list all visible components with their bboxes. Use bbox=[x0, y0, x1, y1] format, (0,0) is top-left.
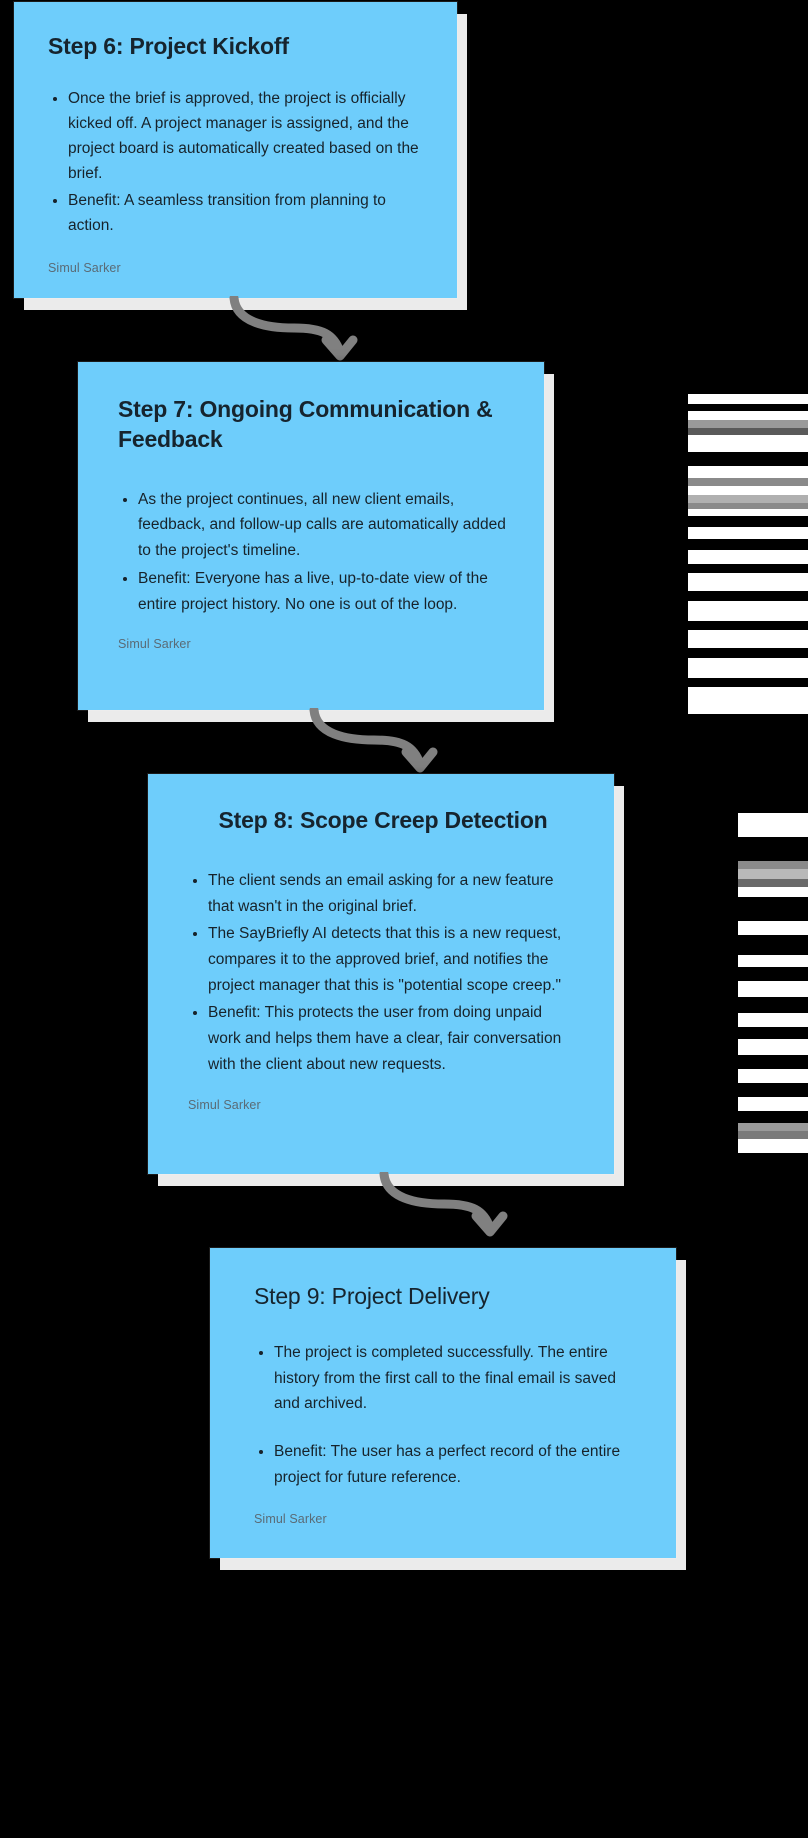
list-item: The SayBriefly AI detects that this is a… bbox=[208, 921, 578, 998]
card-byline: Simul Sarker bbox=[118, 637, 508, 651]
card-title: Step 8: Scope Creep Detection bbox=[188, 806, 578, 836]
card-byline: Simul Sarker bbox=[48, 261, 423, 275]
arrow-step6-to-step7 bbox=[222, 296, 402, 362]
list-item: Benefit: A seamless transition from plan… bbox=[68, 188, 423, 238]
list-item: Once the brief is approved, the project … bbox=[68, 86, 423, 186]
card-step-8[interactable]: Step 8: Scope Creep Detection The client… bbox=[148, 774, 614, 1174]
list-item: The project is completed successfully. T… bbox=[274, 1340, 640, 1417]
card-step-7[interactable]: Step 7: Ongoing Communication & Feedback… bbox=[78, 362, 544, 710]
card-byline: Simul Sarker bbox=[188, 1098, 578, 1112]
arrow-step7-to-step8 bbox=[302, 708, 482, 774]
card-bullet-list: The project is completed successfully. T… bbox=[254, 1340, 640, 1491]
list-item: As the project continues, all new client… bbox=[138, 487, 508, 564]
card-bullet-list: Once the brief is approved, the project … bbox=[48, 86, 423, 239]
arrow-step8-to-step9 bbox=[372, 1172, 552, 1238]
list-item: Benefit: The user has a perfect record o… bbox=[274, 1439, 640, 1490]
list-item: The client sends an email asking for a n… bbox=[208, 868, 578, 919]
card-title: Step 7: Ongoing Communication & Feedback bbox=[118, 394, 508, 455]
card-step-6[interactable]: Step 6: Project Kickoff Once the brief i… bbox=[14, 2, 457, 298]
card-title: Step 9: Project Delivery bbox=[254, 1282, 640, 1312]
page-edge-artifact-middle bbox=[738, 785, 808, 1185]
diagram-canvas: Step 6: Project Kickoff Once the brief i… bbox=[0, 0, 808, 1838]
card-step-9[interactable]: Step 9: Project Delivery The project is … bbox=[210, 1248, 676, 1558]
list-item: Benefit: Everyone has a live, up-to-date… bbox=[138, 566, 508, 617]
page-edge-artifact-top bbox=[688, 394, 808, 714]
card-byline: Simul Sarker bbox=[254, 1512, 640, 1526]
card-bullet-list: The client sends an email asking for a n… bbox=[188, 868, 578, 1078]
card-title: Step 6: Project Kickoff bbox=[48, 32, 423, 62]
list-item: Benefit: This protects the user from doi… bbox=[208, 1000, 578, 1077]
card-bullet-list: As the project continues, all new client… bbox=[118, 487, 508, 618]
